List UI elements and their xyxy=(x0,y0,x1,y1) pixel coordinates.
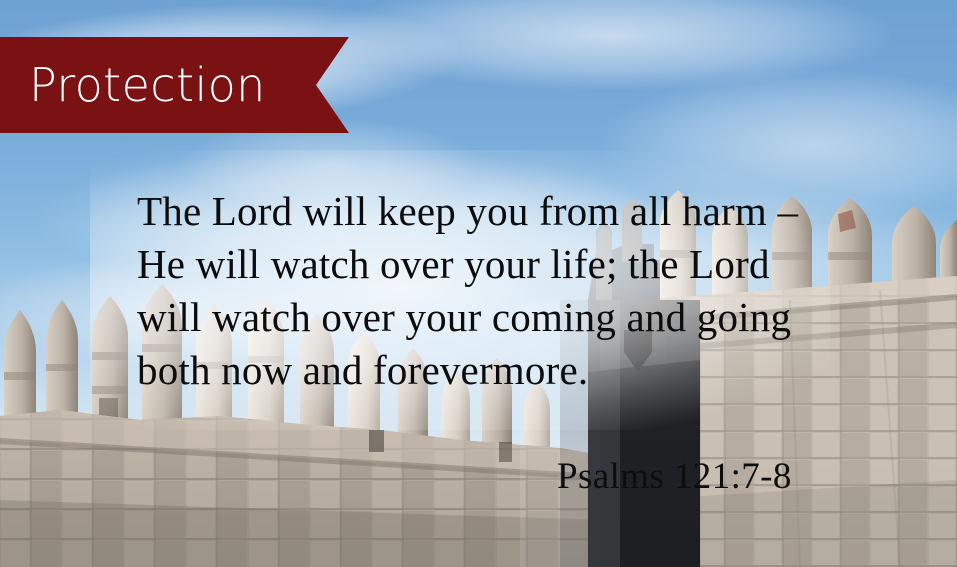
protection-banner: Protection xyxy=(0,37,349,133)
scripture-verse-text: The Lord will keep you from all harm – H… xyxy=(137,185,837,397)
banner-title: Protection xyxy=(29,62,266,108)
cloud-wisp xyxy=(330,0,890,90)
scripture-graphic: Protection The Lord will keep you from a… xyxy=(0,0,957,567)
scripture-reference: Psalms 121:7-8 xyxy=(557,458,792,497)
